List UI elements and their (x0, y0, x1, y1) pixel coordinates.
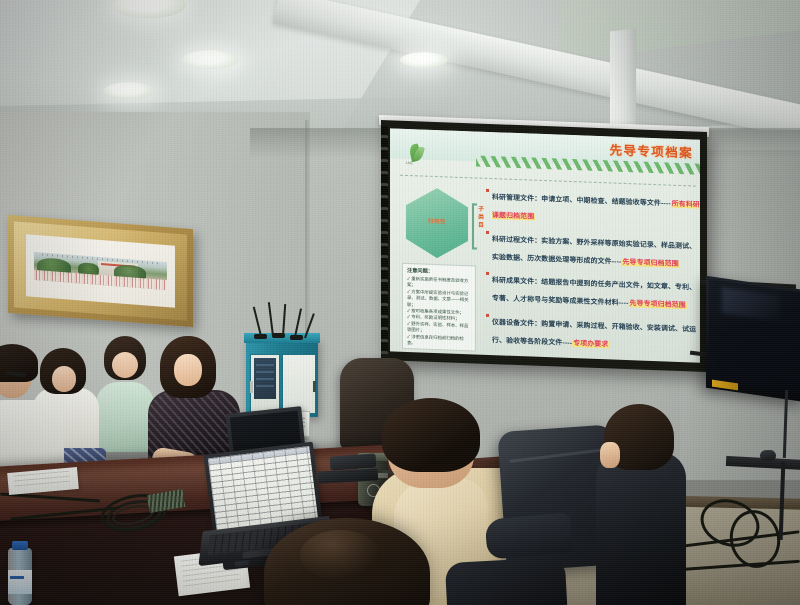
frame-mat (26, 234, 175, 307)
microphone-base (290, 335, 303, 340)
water-bottle (8, 548, 32, 605)
computer-mouse (760, 450, 776, 461)
slide-subcategory-label: 子类目 (477, 206, 485, 230)
bullet-text: 特殊载体文件：照片、音视频、电子文件(数据)等 (492, 360, 645, 363)
bullet-dash: ---- (619, 300, 629, 307)
person-torso (596, 452, 686, 605)
notes-heading: 注意问题： (407, 267, 471, 276)
bottle-cap (12, 541, 28, 550)
slide-divider (400, 175, 696, 187)
slide-bullet: 科研管理文件：申请立项、中期检查、结题验收等文件----所有科研课题归档范围 (486, 186, 700, 230)
institute-logo-icon: IAE (404, 144, 426, 167)
panoramic-group-photo (34, 252, 167, 290)
bullet-dash: ---- (661, 200, 671, 207)
tv-screen (709, 279, 800, 394)
screen-tension-tabs (381, 126, 388, 354)
person-face-front (52, 366, 76, 392)
person-face-front (112, 352, 138, 378)
notes-item: ✓ 方案中所提实验设计与实验记录、测试、数据、文章——相关联； (407, 289, 471, 311)
downlight-icon-2 (182, 50, 238, 69)
framed-photo (8, 215, 193, 327)
chair-seat-foreground (445, 557, 567, 605)
downlight-icon-4 (400, 52, 448, 68)
cabinet-glass-pane (254, 358, 276, 399)
cabinet-solid-door (282, 354, 316, 414)
chair-stitching (509, 449, 601, 463)
cabinet-glass-door (250, 354, 280, 414)
person-hair (382, 398, 480, 472)
slide-bullet: 仪器设备文件：购置申请、采购过程、开箱验收、安装调试、试运行、验收等各阶段文件-… (486, 310, 700, 354)
hexagon-label: 归档性 (406, 216, 468, 226)
slide-notes-box: 注意问题： ✓ 重新实施责任书制度及验收方案； ✓ 方案中所提实验设计与实验记录… (402, 263, 476, 352)
wall-mounted-display (706, 276, 800, 402)
notes-item: ✓ 涉密信息在归档前归档的检查。 (407, 334, 471, 349)
cabinet-handle-right (313, 381, 316, 392)
bullet-text: 科研管理文件：申请立项、中期检查、结题验收等文件 (492, 194, 661, 207)
person-torso (96, 382, 154, 452)
cabinet-interior (256, 364, 274, 393)
slide-bullet: 科研成果文件：结题报告中提到的任务产出文件，如文章、专利、专著、人才称号与奖励等… (486, 269, 700, 313)
microphone-equipment-cabinet (246, 339, 318, 417)
slide-title: 先导专项档案 (610, 139, 693, 161)
slide-bullet: 特殊载体文件：照片、音视频、电子文件(数据)等----先导专项归档范围 (486, 352, 700, 363)
slide-bullet: 科研过程文件：实验方案、野外采样等原始实验记录、样品测试、实验数据、历次数据处理… (486, 227, 700, 271)
person-ear-cheek (600, 442, 620, 468)
bullet-highlight: 先导专项归档范围 (629, 300, 687, 309)
bottle-label (8, 570, 32, 594)
meeting-room-photo: 先导专项档案 IAE 归档性 子类目 注意问题： ✓ 重新实施责任书制度及验收方… (0, 0, 800, 605)
projected-slide: 先导专项档案 IAE 归档性 子类目 注意问题： ✓ 重新实施责任书制度及验收方… (390, 128, 700, 362)
person-face-front (174, 354, 202, 386)
cabinet-handle-left (250, 381, 253, 393)
slide-hexagon-shape: 归档性 (406, 187, 468, 259)
bottle-label-text (10, 576, 24, 579)
slide-bullet-list: 科研管理文件：申请立项、中期检查、结题验收等文件----所有科研课题归档范围 科… (486, 186, 700, 363)
paper-text-lines (13, 470, 70, 490)
frame-bevel (14, 221, 187, 320)
chair-armrest (484, 512, 573, 559)
hair-highlight (300, 530, 380, 580)
downlight-icon-3 (104, 82, 154, 99)
bullet-highlight: 先导专项归档范围 (621, 258, 679, 267)
logo-text: IAE (406, 161, 413, 165)
tv-screen-glare (722, 287, 780, 322)
bullet-highlight: 专项办要求 (572, 340, 609, 348)
projection-screen: 先导专项档案 IAE 归档性 子类目 注意问题： ✓ 重新实施责任书制度及验收方… (381, 120, 707, 372)
bullet-dash: ---- (562, 339, 572, 346)
